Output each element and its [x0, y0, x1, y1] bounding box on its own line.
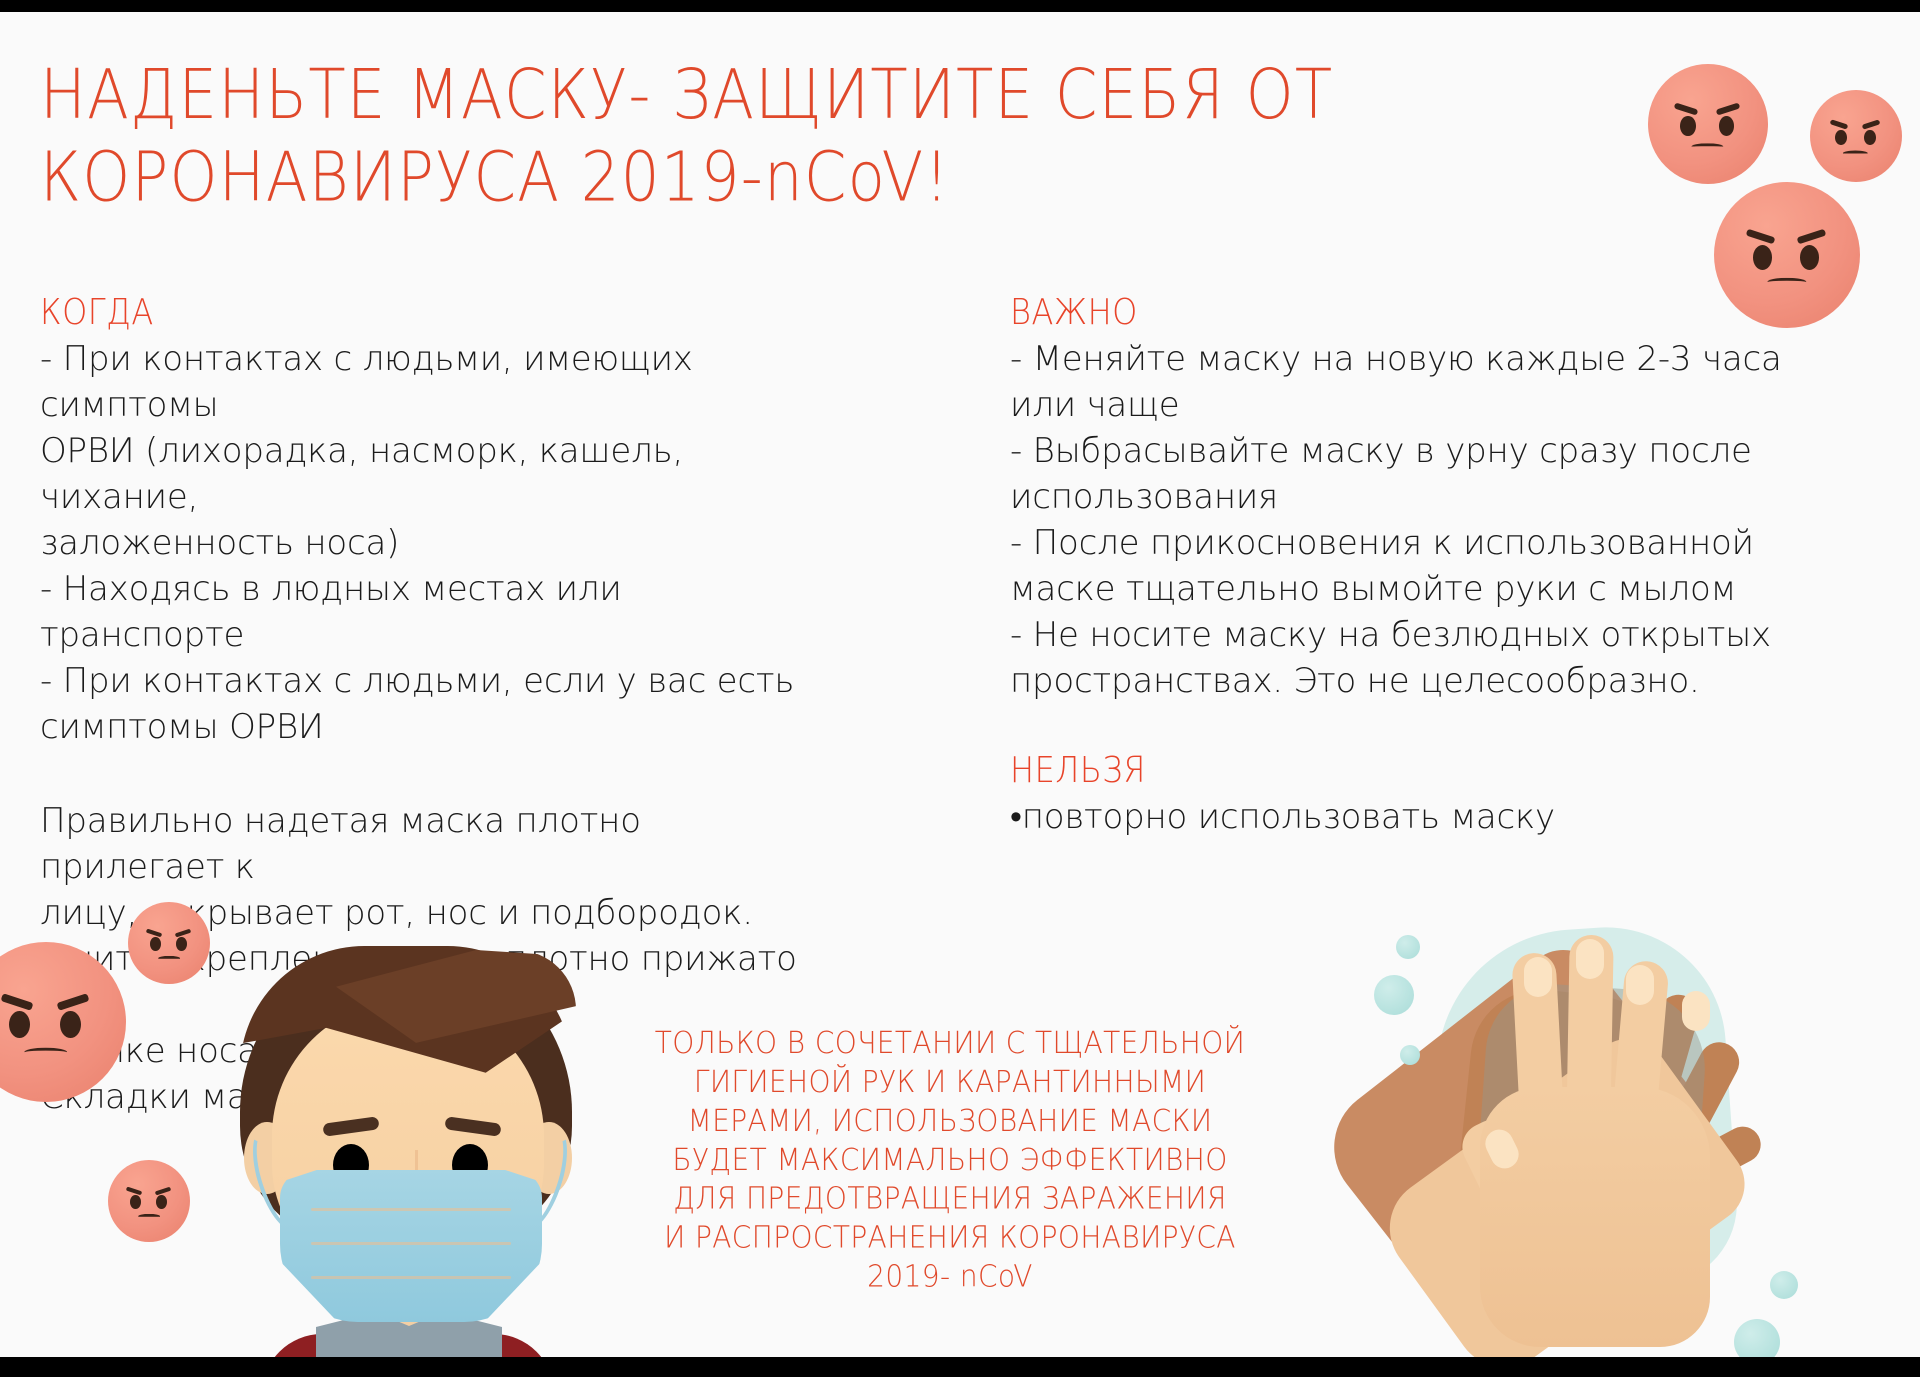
virus-eyebrow-left [1746, 229, 1776, 245]
poster-canvas: НАДЕНЬТЕ МАСКУ- ЗАЩИТИТЕ СЕБЯ ОТ КОРОНАВ… [0, 12, 1920, 1357]
virus-face [1810, 90, 1902, 182]
virus-mouth [1843, 151, 1868, 157]
virus-eye-right [1719, 116, 1735, 136]
virus-bottom-left-small-1 [128, 902, 210, 984]
page-title: НАДЕНЬТЕ МАСКУ- ЗАЩИТИТЕ СЕБЯ ОТ КОРОНАВ… [40, 54, 1340, 220]
virus-eye-right [1800, 245, 1819, 270]
important-list: - Меняйте маску на новую каждые 2-3 часа… [1010, 336, 1880, 704]
mask-pleat-2 [311, 1242, 510, 1245]
front-hand-palm [1480, 1087, 1710, 1347]
virus-eyebrow-left [146, 928, 163, 937]
virus-eyebrow-left [1, 993, 34, 1010]
virus-eyebrow-left [126, 1186, 143, 1195]
virus-face [108, 1160, 190, 1242]
virus-eye-right [156, 1195, 167, 1209]
virus-mouth [158, 956, 180, 961]
virus-top-right-3 [1714, 182, 1860, 328]
virus-face [1714, 182, 1860, 328]
virus-bottom-left-large [0, 942, 126, 1102]
virus-eyebrow-left [1674, 102, 1699, 115]
when-list: - При контактах с людьми, имеющих симпто… [40, 336, 800, 750]
surgical-mask [280, 1170, 542, 1322]
virus-eye-right [176, 937, 187, 951]
hands-washing-with-soap [1330, 917, 1920, 1357]
heading-forbidden: НЕЛЬЗЯ [1010, 748, 1880, 792]
virus-eyebrow-right [155, 1186, 172, 1195]
virus-eyebrow-right [175, 928, 192, 937]
virus-eye-left [9, 1011, 30, 1038]
virus-eye-right [1864, 130, 1876, 146]
soap-bubble-1 [1396, 935, 1420, 959]
virus-mouth [24, 1048, 67, 1058]
virus-face [0, 942, 126, 1102]
mask-pleat-3 [311, 1276, 510, 1279]
virus-eye-right [60, 1011, 81, 1038]
virus-eyebrow-right [1797, 229, 1827, 245]
front-hand-nail-2 [1576, 939, 1604, 979]
right-column: ВАЖНО - Меняйте маску на новую каждые 2-… [1010, 290, 1880, 840]
virus-eye-left [130, 1195, 141, 1209]
forbidden-list: •повторно использовать маску [1010, 794, 1880, 840]
virus-eyebrow-left [1830, 119, 1849, 129]
front-hand-nail-3 [1626, 965, 1654, 1005]
virus-bottom-left-small-2 [108, 1160, 190, 1242]
soap-bubble-4 [1770, 1271, 1798, 1299]
virus-eyebrow-right [1716, 102, 1741, 115]
virus-face [128, 902, 210, 984]
back-hand-nail [1682, 991, 1710, 1031]
virus-mouth [1691, 143, 1723, 150]
virus-top-right-2 [1810, 90, 1902, 182]
heading-when: КОГДА [40, 290, 800, 334]
front-hand-nail-1 [1524, 957, 1552, 997]
virus-eye-left [1835, 130, 1847, 146]
virus-eye-left [1753, 245, 1772, 270]
mask-pleat-1 [311, 1208, 510, 1211]
boy-wearing-mask [196, 942, 616, 1357]
bottom-caption: ТОЛЬКО В СОЧЕТАНИИ С ТЩАТЕЛЬНОЙ ГИГИЕНОЙ… [600, 1024, 1300, 1296]
soap-bubble-3 [1400, 1045, 1420, 1065]
virus-eyebrow-right [57, 993, 90, 1010]
soap-bubble-2 [1374, 975, 1414, 1015]
virus-top-right-1 [1648, 64, 1768, 184]
virus-eyebrow-right [1862, 119, 1881, 129]
virus-mouth [1767, 278, 1806, 287]
virus-face [1648, 64, 1768, 184]
virus-eye-left [1680, 116, 1696, 136]
virus-mouth [138, 1214, 160, 1219]
virus-eye-left [150, 937, 161, 951]
soap-bubble-5 [1734, 1319, 1780, 1357]
